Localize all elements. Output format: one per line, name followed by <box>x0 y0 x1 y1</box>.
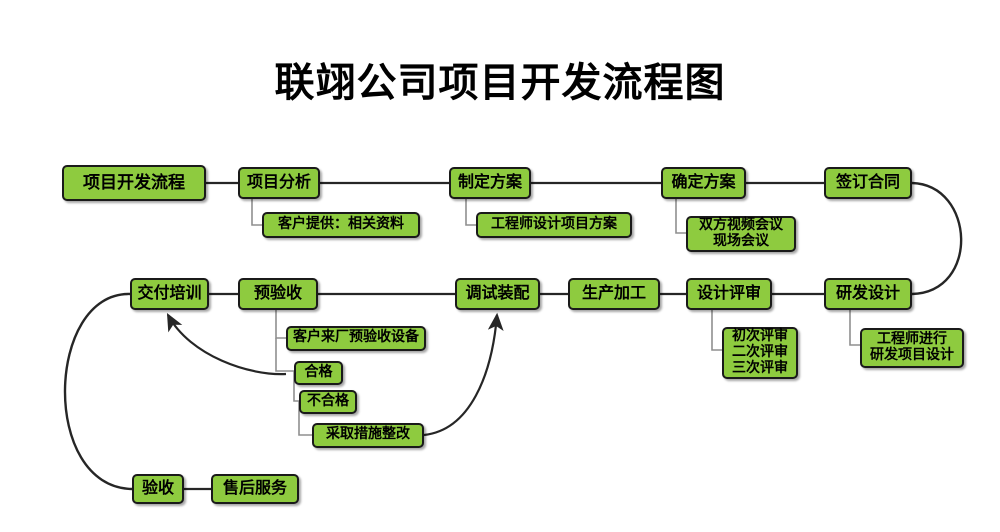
node-engineer-designs-plan[interactable]: 工程师设计项目方案 <box>476 212 632 238</box>
node-sign-contract[interactable]: 签订合同 <box>824 167 912 199</box>
node-confirm-plan[interactable]: 确定方案 <box>661 167 746 199</box>
node-production-processing[interactable]: 生产加工 <box>568 278 660 310</box>
edge-rectify-to-assembly <box>424 315 497 435</box>
node-customer-factory-pre-acceptance[interactable]: 客户来厂预验收设备 <box>286 326 426 351</box>
node-take-corrective-action[interactable]: 采取措施整改 <box>312 423 424 448</box>
node-debug-assembly[interactable]: 调试装配 <box>455 278 540 310</box>
node-pre-acceptance[interactable]: 预验收 <box>238 278 318 310</box>
edge-pass-to-delivery <box>168 315 286 374</box>
node-project-analysis[interactable]: 项目分析 <box>238 167 320 199</box>
node-design-review[interactable]: 设计评审 <box>686 278 772 310</box>
node-review-rounds[interactable]: 初次评审 二次评审 三次评审 <box>722 327 798 379</box>
page-title: 联翊公司项目开发流程图 <box>0 50 1000 108</box>
edge-delivery-to-acceptance <box>65 294 132 489</box>
node-rnd-design[interactable]: 研发设计 <box>824 278 912 310</box>
node-customer-provides-materials[interactable]: 客户提供：相关资料 <box>262 212 420 238</box>
node-unqualified[interactable]: 不合格 <box>299 390 357 414</box>
node-after-sales-service[interactable]: 售后服务 <box>211 474 299 504</box>
node-qualified[interactable]: 合格 <box>294 361 343 385</box>
node-engineer-rnd-design[interactable]: 工程师进行 研发项目设计 <box>860 328 964 368</box>
node-acceptance[interactable]: 验收 <box>132 474 184 504</box>
node-delivery-training[interactable]: 交付培训 <box>130 278 209 310</box>
node-formulate-plan[interactable]: 制定方案 <box>449 167 531 199</box>
node-project-development-process[interactable]: 项目开发流程 <box>62 165 206 201</box>
node-meeting-options[interactable]: 双方视频会议 现场会议 <box>686 216 796 252</box>
flowchart-canvas: 联翊公司项目开发流程图 项目开发流程 项目分析 制定方案 确定方案 签订合同 客… <box>0 0 1000 532</box>
edge-contract-to-rnd <box>912 183 961 294</box>
